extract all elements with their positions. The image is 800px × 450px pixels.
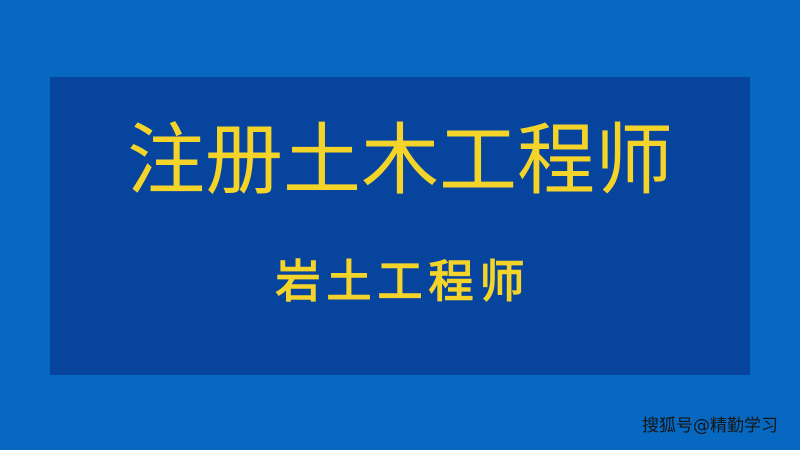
subtitle: 岩土工程师 — [269, 252, 530, 312]
watermark-label: 搜狐号@精勤学习 — [642, 416, 778, 436]
title-panel: 注册土木工程师 岩土工程师 — [50, 77, 750, 375]
slide-canvas: 注册土木工程师 岩土工程师 搜狐号@精勤学习 — [0, 0, 800, 450]
main-title-row: 注册土木工程师 — [50, 113, 750, 209]
title-panel-content: 注册土木工程师 岩土工程师 — [50, 77, 750, 375]
subtitle-row: 岩土工程师 — [50, 252, 750, 312]
main-title: 注册土木工程师 — [127, 113, 673, 209]
